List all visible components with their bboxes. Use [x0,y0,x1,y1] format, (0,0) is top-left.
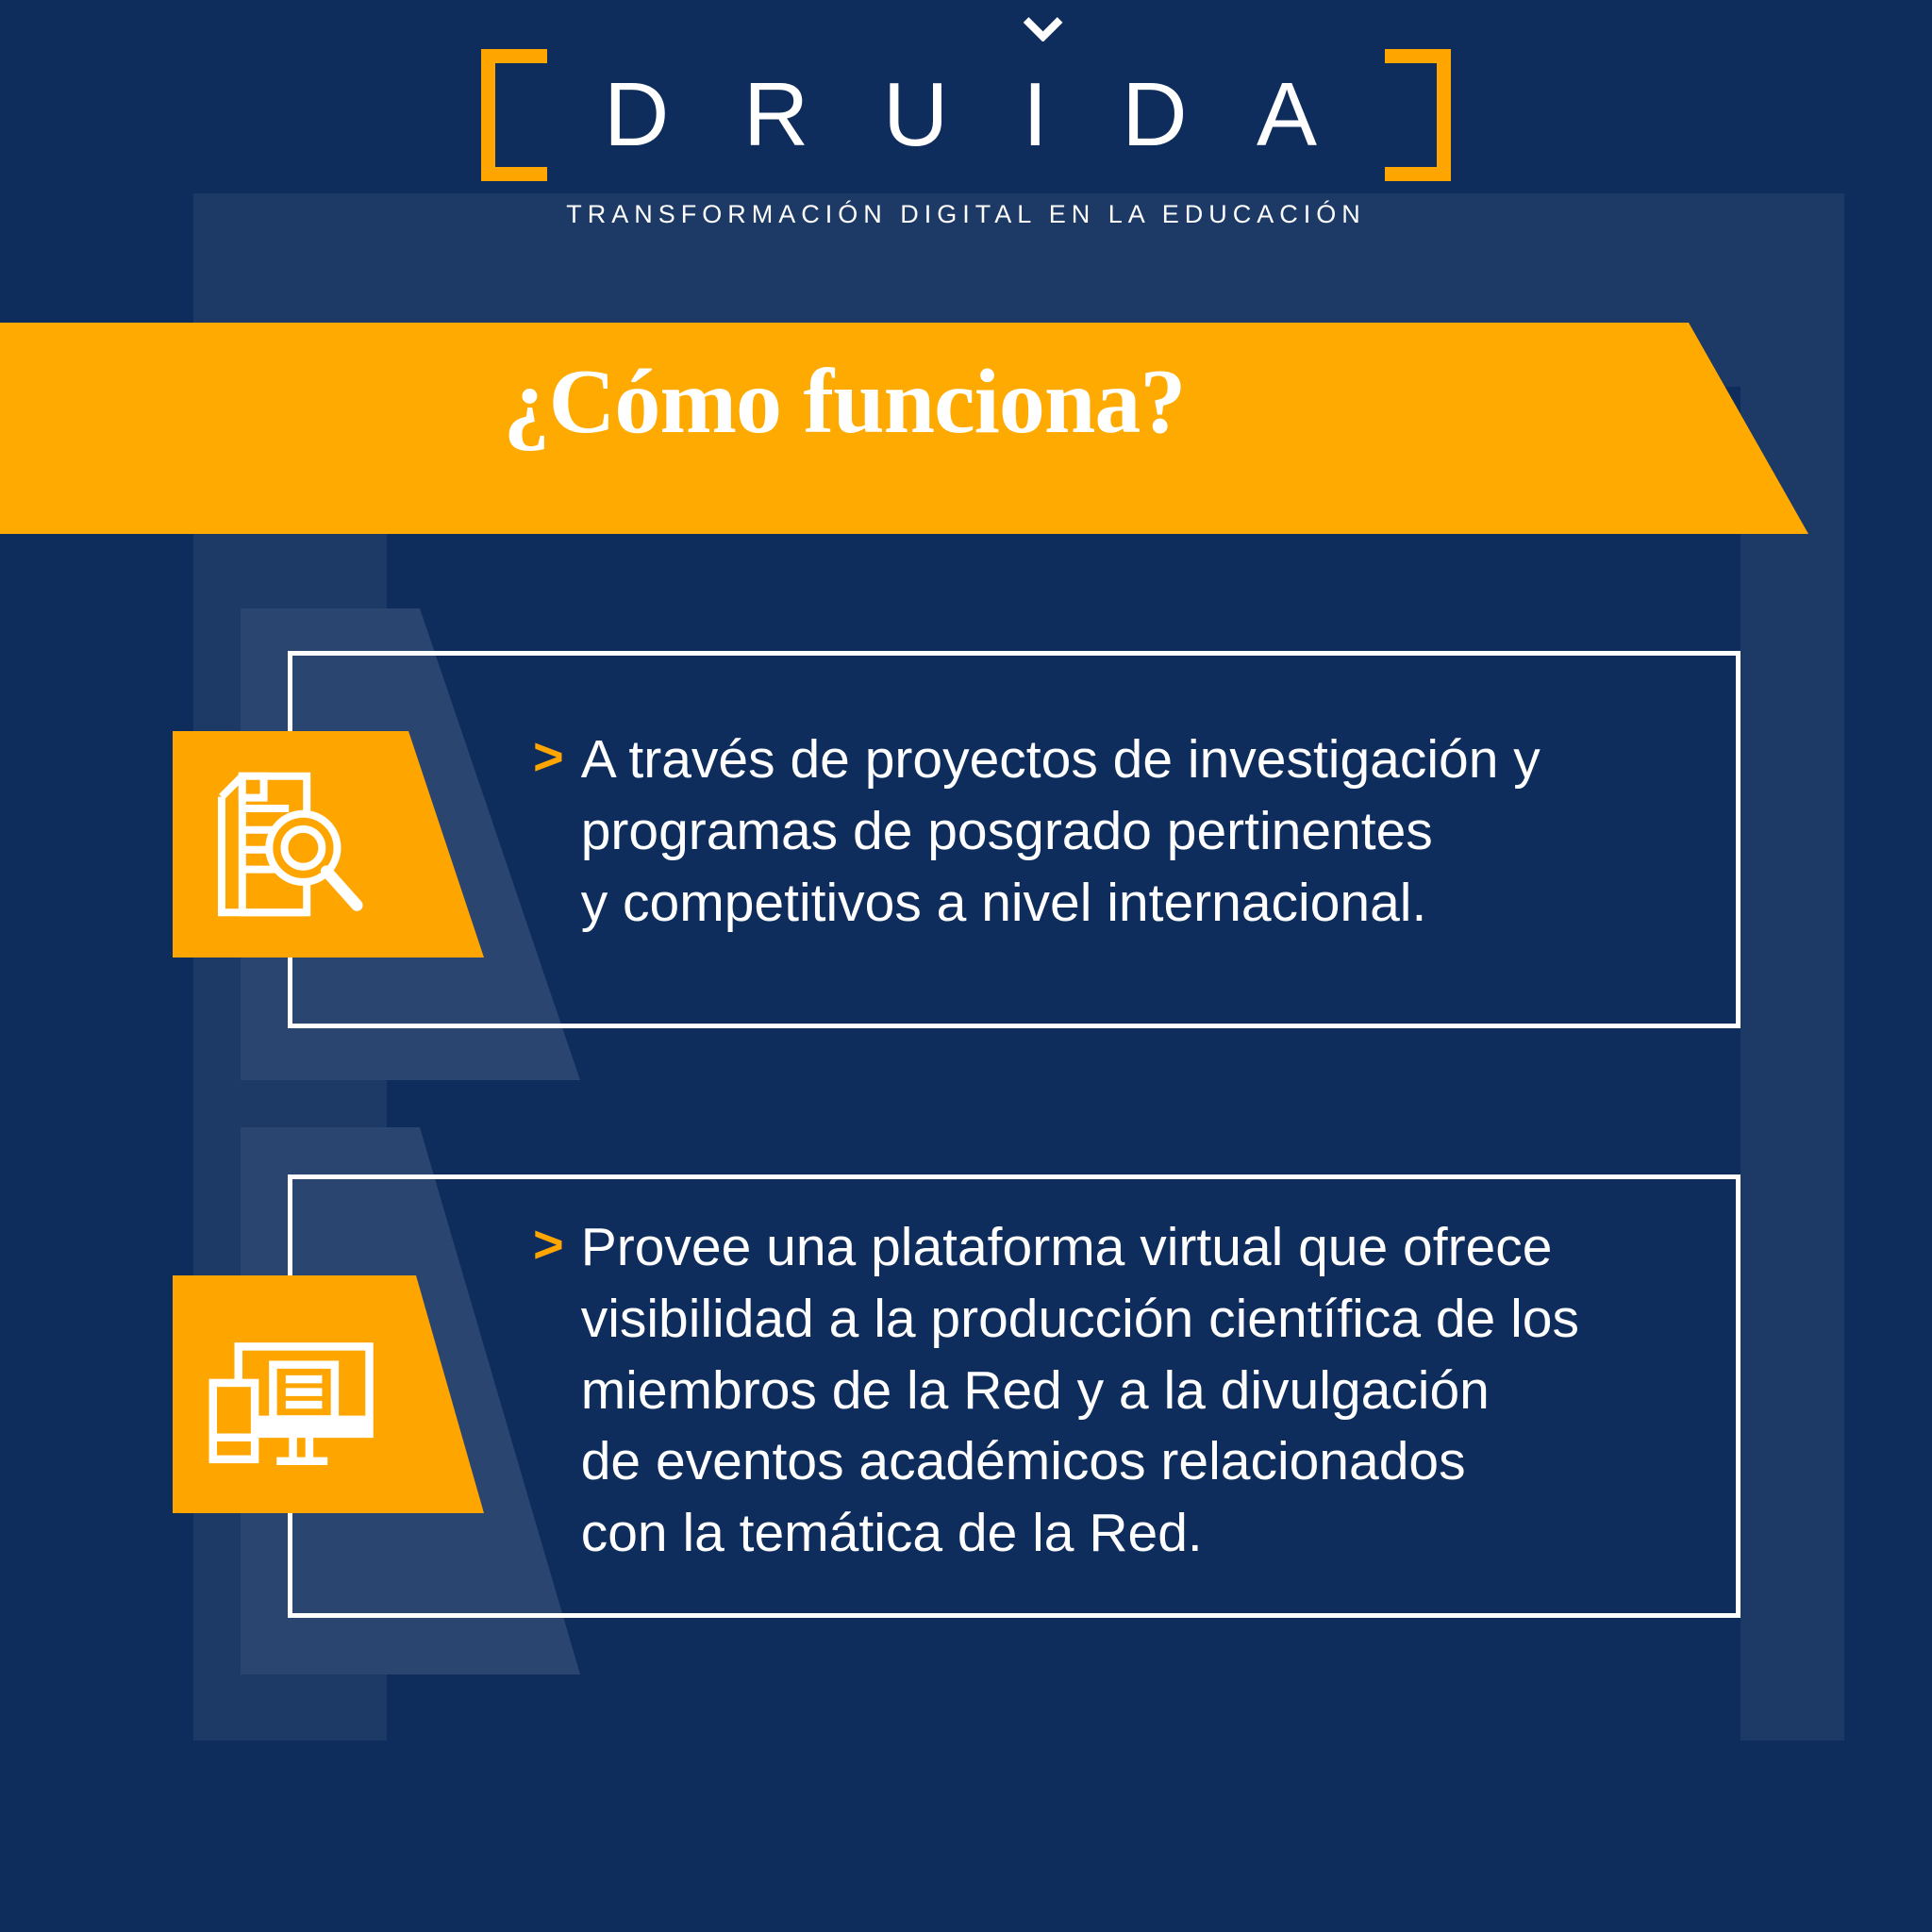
card-1-body: > A través de proyectos de investigación… [533,724,1712,939]
page-title: ¿Cómo funciona? [0,349,1689,455]
desktop-mobile-icon [203,1307,387,1481]
brand-tagline: TRANSFORMACIÓN DIGITAL EN LA EDUCACIÓN [0,200,1932,229]
breve-i-glyph: I [1023,49,1073,181]
card-2-bullet-icon: > [533,1218,564,1271]
card-2-body: > Provee una plataforma virtual que ofre… [533,1212,1722,1570]
document-search-icon [203,755,382,934]
card-1-text: A través de proyectos de investigación y… [581,724,1541,939]
brand-logo: D R U I D A [0,49,1932,186]
poster-canvas: D R U I D A TRANSFORMACIÓN DIGITAL EN LA… [0,0,1932,1932]
bracket-left-icon [481,49,547,181]
card-2-text: Provee una plataforma virtual que ofrece… [581,1212,1579,1570]
bracket-right-icon [1385,49,1451,181]
frame-right-band [1740,193,1844,1740]
wordmark: D R U I D A [547,49,1385,181]
card-1-bullet-icon: > [533,730,564,783]
breve-accent-icon [1023,17,1064,42]
footer-logos: UCi Universidad de las Ciencias Informát… [0,1750,1932,1891]
